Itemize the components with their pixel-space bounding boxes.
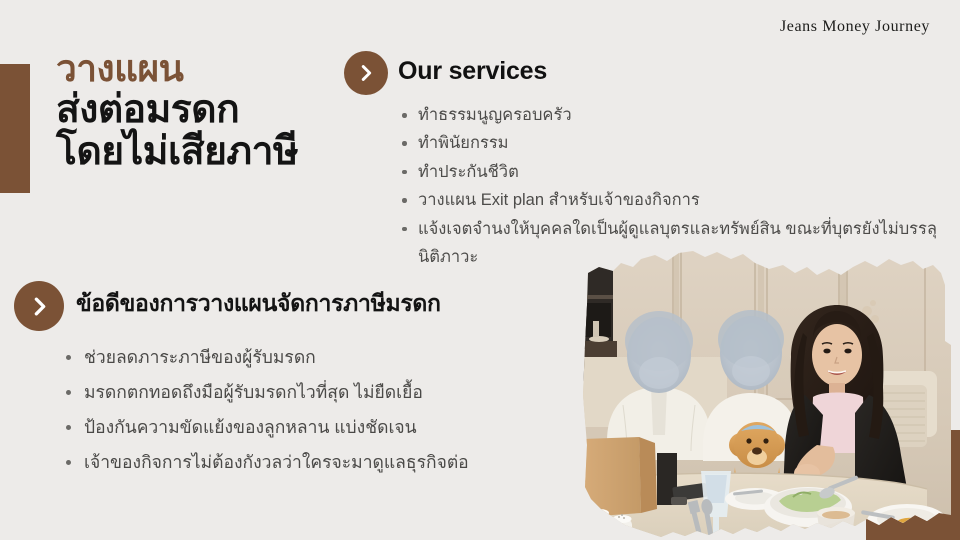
benefits-header: ข้อดีของการวางแผนจัดการภาษีมรดก [14, 281, 574, 331]
list-item: ช่วยลดภาระภาษีของผู้รับมรดก [64, 340, 574, 375]
page-title: วางแผน ส่งต่อมรดก โดยไม่เสียภาษี [56, 50, 356, 171]
benefits-section: ข้อดีของการวางแผนจัดการภาษีมรดก ช่วยลดภา… [14, 281, 574, 480]
list-item: วางแผน Exit plan สำหรับเจ้าของกิจการ [400, 186, 944, 214]
benefits-title: ข้อดีของการวางแผนจัดการภาษีมรดก [76, 281, 441, 315]
left-accent-bar [0, 64, 30, 193]
list-item: ทำประกันชีวิต [400, 158, 944, 186]
slide-canvas: Jeans Money Journey วางแผน ส่งต่อมรดก โด… [0, 0, 960, 540]
headline-line-2: ส่งต่อมรดก [56, 90, 356, 130]
headline-line-3: โดยไม่เสียภาษี [56, 132, 356, 172]
list-item: มรดกตกทอดถึงมือผู้รับมรดกไวที่สุด ไม่ยืด… [64, 375, 574, 410]
brand-name: Jeans Money Journey [780, 18, 930, 36]
list-item: ทำพินัยกรรม [400, 129, 944, 157]
services-section: Our services ทำธรรมนูญครอบครัว ทำพินัยกร… [344, 50, 944, 271]
services-header: Our services [344, 50, 944, 95]
benefits-list: ช่วยลดภาระภาษีของผู้รับมรดก มรดกตกทอดถึง… [64, 340, 574, 480]
chevron-right-icon [344, 51, 388, 95]
list-item: ป้องกันความขัดแย้งของลูกหลาน แบ่งชัดเจน [64, 410, 574, 445]
photo-container [555, 245, 960, 540]
chevron-right-icon [14, 281, 64, 331]
family-dinner-photo [555, 245, 960, 540]
list-item: ทำธรรมนูญครอบครัว [400, 101, 944, 129]
headline-line-1: วางแผน [56, 50, 356, 88]
services-title: Our services [398, 50, 547, 84]
list-item: เจ้าของกิจการไม่ต้องกังวลว่าใครจะมาดูแลธ… [64, 445, 574, 480]
